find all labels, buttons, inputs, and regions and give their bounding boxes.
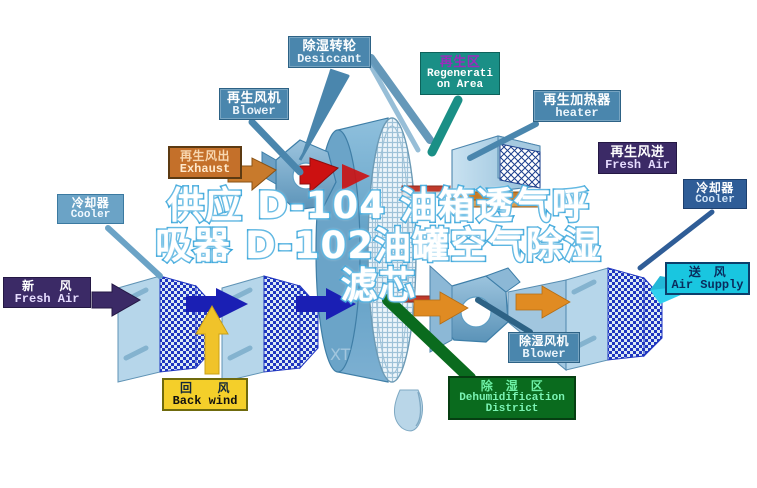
svg-text:XT: XT [330,345,351,364]
label-en: Fresh Air [8,293,86,306]
label-back-wind: 回 风 Back wind [162,378,248,411]
label-cn: 回 风 [168,382,242,395]
rotor-seal-top [402,186,450,197]
cooler-coil-2 [222,276,318,382]
label-en: Cooler [688,195,742,207]
label-dehumidification-district: 除 湿 区 Dehumidification District [448,376,576,420]
label-en: Air Supply [671,279,744,292]
label-exhaust: 再生风出 Exhaust [168,146,242,179]
label-cn: 除湿风机 [513,335,575,348]
label-en: Exhaust [174,163,236,176]
label-en: Desiccant [293,53,366,66]
label-air-supply: 送 风 Air Supply [665,262,750,295]
label-en: Regenerati on Area [425,69,495,92]
label-cn: 冷却器 [62,197,119,210]
label-desiccant-wheel: 除湿转轮 Desiccant [288,36,371,68]
label-regeneration-fresh-air-in: 再生风进 Fresh Air [598,142,677,174]
label-cooler-right: 冷却器 Cooler [683,179,747,209]
label-fresh-air-left: 新 风 Fresh Air [3,277,91,308]
label-cn: 冷却器 [688,182,742,195]
label-regeneration-heater: 再生加热器 heater [533,90,621,122]
label-cn: 送 风 [671,266,744,279]
label-en: Back wind [168,395,242,408]
label-en: Dehumidification District [454,393,570,416]
label-cn: 再生区 [425,55,495,69]
label-cn: 再生风机 [224,91,284,105]
label-cn: 再生风出 [174,150,236,163]
label-dehumidification-blower: 除湿风机 Blower [508,332,580,363]
label-en: Fresh Air [603,159,672,172]
label-cn: 再生风进 [603,145,672,159]
label-regeneration-blower: 再生风机 Blower [219,88,289,120]
label-en: Blower [513,348,575,361]
process-diagram-artwork: XT [0,0,757,488]
label-cn: 除 湿 区 [454,380,570,393]
label-cooler-left: 冷却器 Cooler [57,194,124,224]
label-cn: 新 风 [8,280,86,293]
label-cn: 再生加热器 [538,93,616,107]
diagram-canvas: XT [0,0,757,488]
label-en: Blower [224,105,284,118]
label-regeneration-area: 再生区 Regenerati on Area [420,52,500,95]
label-cn: 除湿转轮 [293,39,366,53]
cooler-coil-3 [566,268,662,370]
label-en: Cooler [62,210,119,222]
label-en: heater [538,107,616,120]
